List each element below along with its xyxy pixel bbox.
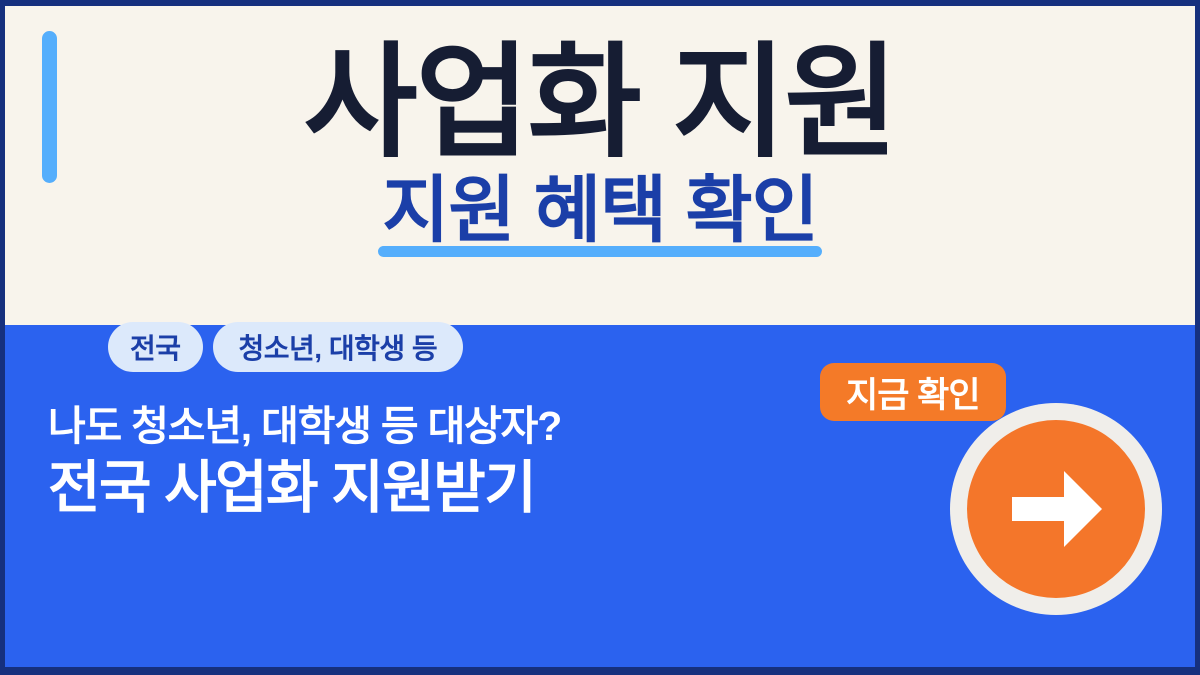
page-subtitle: 지원 혜택 확인 — [382, 172, 818, 249]
tag-audience[interactable]: 청소년, 대학생 등 — [213, 322, 464, 372]
copy-headline: 전국 사업화 지원받기 — [48, 456, 561, 521]
cta-arrow-button[interactable] — [950, 403, 1162, 615]
header-section: 사업화 지원 지원 혜택 확인 — [5, 6, 1195, 325]
subtitle-wrapper: 지원 혜택 확인 — [382, 172, 818, 249]
copy-question: 나도 청소년, 대학생 등 대상자? — [48, 402, 561, 450]
cta-badge[interactable]: 지금 확인 — [820, 363, 1006, 421]
promo-banner: 사업화 지원 지원 혜택 확인 전국 청소년, 대학생 등 나도 청소년, 대학… — [0, 0, 1200, 675]
tag-region[interactable]: 전국 — [108, 322, 203, 372]
tag-row: 전국 청소년, 대학생 등 — [108, 322, 463, 372]
content-section: 전국 청소년, 대학생 등 나도 청소년, 대학생 등 대상자? 전국 사업화 … — [5, 325, 1195, 667]
banner-inner-frame: 사업화 지원 지원 혜택 확인 전국 청소년, 대학생 등 나도 청소년, 대학… — [5, 6, 1195, 667]
cta-arrow-button-face — [967, 420, 1145, 598]
page-title: 사업화 지원 — [5, 6, 1195, 166]
copy-block: 나도 청소년, 대학생 등 대상자? 전국 사업화 지원받기 — [48, 402, 561, 521]
title-block: 사업화 지원 지원 혜택 확인 — [5, 6, 1195, 250]
arrow-right-icon — [1004, 461, 1108, 557]
